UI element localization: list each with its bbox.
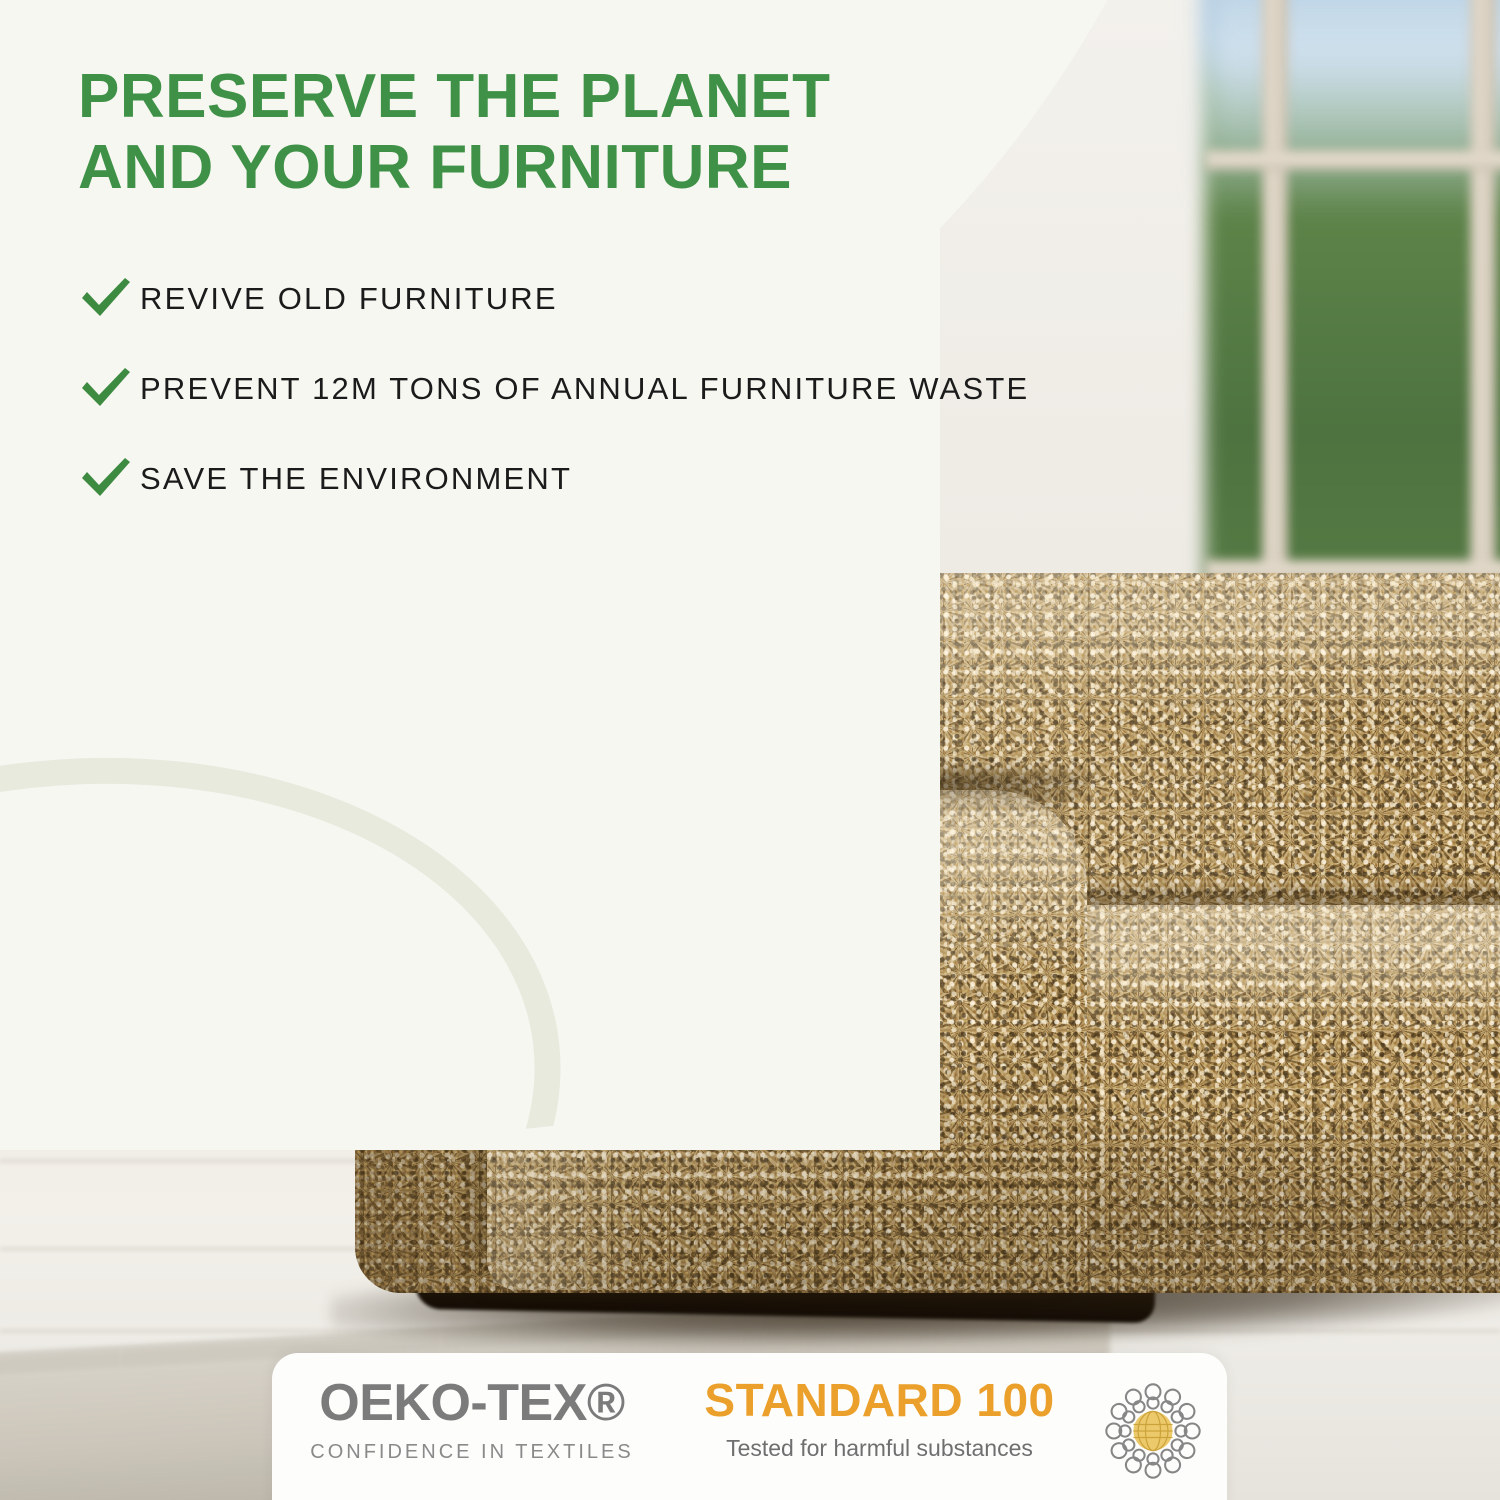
list-item-label: REVIVE OLD FURNITURE	[140, 281, 558, 317]
list-item: REVIVE OLD FURNITURE	[78, 276, 1198, 322]
headline-line-1: PRESERVE THE PLANET	[78, 62, 1098, 133]
standard-title: STANDARD 100	[672, 1377, 1087, 1423]
page-title: PRESERVE THE PLANET AND YOUR FURNITURE	[78, 62, 1098, 203]
list-item: SAVE THE ENVIRONMENT	[78, 456, 1198, 502]
window-mullion-horizontal	[1205, 150, 1500, 170]
headline-line-2: AND YOUR FURNITURE	[78, 133, 1098, 204]
standard-tagline: Tested for harmful substances	[672, 1435, 1087, 1462]
oeko-tex-tagline: CONFIDENCE IN TEXTILES	[272, 1441, 672, 1464]
list-item: PREVENT 12M TONS OF ANNUAL FURNITURE WAS…	[78, 366, 1198, 412]
check-icon	[78, 454, 140, 505]
check-icon	[78, 364, 140, 415]
check-icon	[78, 274, 140, 325]
oeko-tex-wordmark: OEKO-TEX®	[272, 1377, 672, 1429]
benefits-list: REVIVE OLD FURNITURE PREVENT 12M TONS OF…	[78, 276, 1198, 546]
standard-block: STANDARD 100 Tested for harmful substanc…	[672, 1371, 1097, 1462]
list-item-label: PREVENT 12M TONS OF ANNUAL FURNITURE WAS…	[140, 371, 1029, 407]
oeko-tex-brand-block: OEKO-TEX® CONFIDENCE IN TEXTILES	[272, 1371, 672, 1464]
oeko-tex-globe-loops-icon	[1097, 1371, 1227, 1492]
list-item-label: SAVE THE ENVIRONMENT	[140, 461, 572, 497]
promo-image: PRESERVE THE PLANET AND YOUR FURNITURE R…	[0, 0, 1500, 1500]
window-sky-glow	[1205, 0, 1500, 210]
certification-badge: OEKO-TEX® CONFIDENCE IN TEXTILES STANDAR…	[272, 1353, 1227, 1500]
